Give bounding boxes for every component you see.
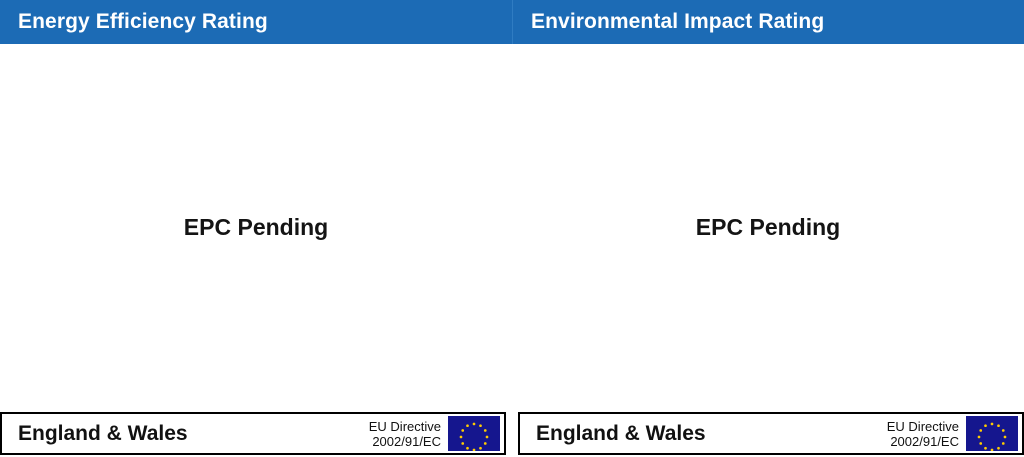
status-badge-energy-efficiency: EPC Pending <box>0 214 512 241</box>
footer-box-environmental-impact: England & Wales EU Directive 2002/91/EC <box>518 412 1024 455</box>
rating-panels: EPC Pending EPC Pending <box>0 44 1024 413</box>
header-band: Energy Efficiency Rating Environmental I… <box>0 0 1024 44</box>
header-cell-energy-efficiency: Energy Efficiency Rating <box>0 0 512 44</box>
eu-flag-icon <box>448 416 500 451</box>
directive-line-2: 2002/91/EC <box>890 434 959 449</box>
directive-group-energy-efficiency: EU Directive 2002/91/EC <box>369 416 500 451</box>
directive-text-energy-efficiency: EU Directive 2002/91/EC <box>369 419 441 449</box>
panel-energy-efficiency: EPC Pending <box>0 44 512 413</box>
header-cell-environmental-impact: Environmental Impact Rating <box>512 0 1024 44</box>
eu-flag-icon <box>966 416 1018 451</box>
page-title-environmental-impact: Environmental Impact Rating <box>513 10 824 34</box>
footer-row: England & Wales EU Directive 2002/91/EC <box>0 412 1024 457</box>
region-label-environmental-impact: England & Wales <box>536 422 706 446</box>
region-label-energy-efficiency: England & Wales <box>18 422 188 446</box>
directive-line-2: 2002/91/EC <box>372 434 441 449</box>
status-badge-environmental-impact: EPC Pending <box>512 214 1024 241</box>
page-title-energy-efficiency: Energy Efficiency Rating <box>0 10 268 34</box>
directive-text-environmental-impact: EU Directive 2002/91/EC <box>887 419 959 449</box>
footer-box-energy-efficiency: England & Wales EU Directive 2002/91/EC <box>0 412 506 455</box>
directive-line-1: EU Directive <box>369 419 441 434</box>
directive-line-1: EU Directive <box>887 419 959 434</box>
epc-certificate: Energy Efficiency Rating Environmental I… <box>0 0 1024 457</box>
panel-environmental-impact: EPC Pending <box>512 44 1024 413</box>
directive-group-environmental-impact: EU Directive 2002/91/EC <box>887 416 1018 451</box>
